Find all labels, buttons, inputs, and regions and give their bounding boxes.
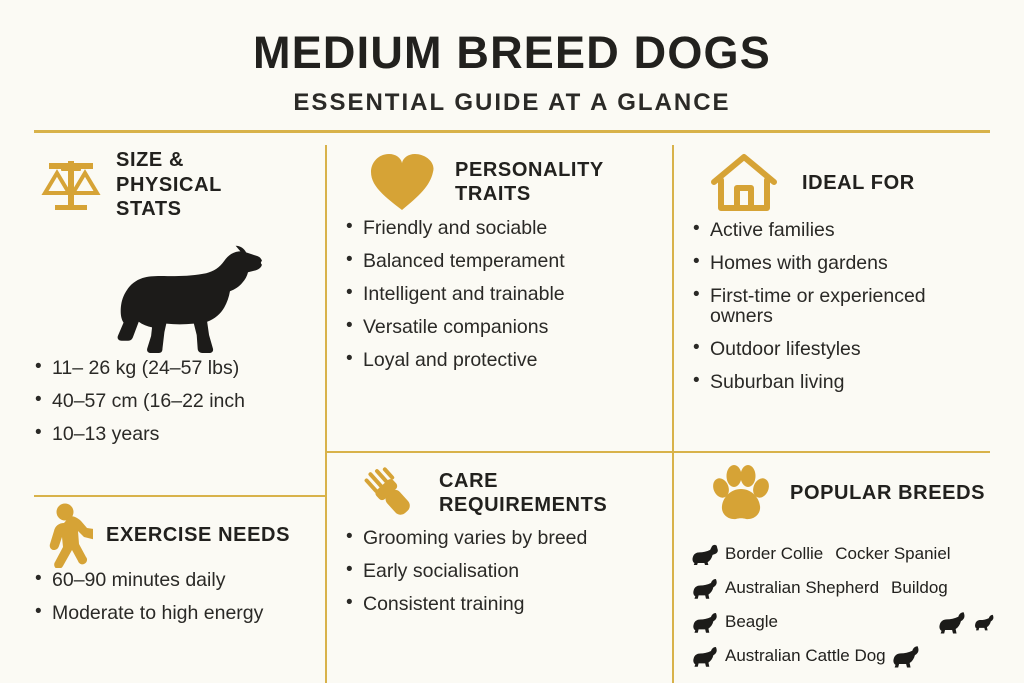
page-title: MEDIUM BREED DOGS bbox=[0, 30, 1024, 75]
breed-name-secondary: Buildog bbox=[891, 578, 948, 598]
list-item: Loyal and protective bbox=[345, 350, 663, 370]
vertical-divider-left bbox=[325, 145, 327, 683]
list-item: Homes with gardens bbox=[692, 253, 992, 273]
panel-header: CARE REQUIREMENTS bbox=[345, 458, 663, 528]
list-item: Consistent training bbox=[345, 594, 663, 614]
personality-list: Friendly and sociable Balanced temperame… bbox=[345, 218, 663, 370]
ideal-for-list: Active families Homes with gardens First… bbox=[692, 220, 992, 392]
trailing-dog-glyphs bbox=[938, 610, 1002, 634]
panel-title: EXERCISE NEEDS bbox=[106, 523, 290, 547]
list-item: 60–90 minutes daily bbox=[34, 570, 322, 590]
list-item: Active families bbox=[692, 220, 992, 240]
panel-size-physical-stats: SIZE & PHYSICAL STATS 11– 26 kg (24–57 l… bbox=[34, 146, 322, 457]
grooming-comb-icon bbox=[355, 458, 425, 528]
breed-name-primary: Australian Shepherd bbox=[725, 578, 879, 598]
panel-care-requirements: CARE REQUIREMENTS Grooming varies by bre… bbox=[345, 458, 663, 627]
list-item: Intelligent and trainable bbox=[345, 284, 663, 304]
list-item: 40–57 cm (16–22 inch bbox=[34, 391, 322, 411]
dog-glyph-icon bbox=[938, 610, 968, 634]
panel-title: SIZE & PHYSICAL STATS bbox=[116, 148, 266, 221]
list-item: Grooming varies by breed bbox=[345, 528, 663, 548]
panel-title: CARE REQUIREMENTS bbox=[439, 469, 663, 518]
dog-glyph-icon bbox=[692, 543, 720, 565]
dog-glyph-icon bbox=[692, 645, 720, 667]
breed-row: Beagle bbox=[692, 608, 1002, 635]
house-icon bbox=[704, 146, 784, 220]
panel-header: SIZE & PHYSICAL STATS bbox=[34, 146, 322, 224]
panel-header: POPULAR BREEDS bbox=[692, 458, 1002, 528]
horizontal-divider-left-column bbox=[34, 495, 326, 497]
header-divider bbox=[34, 130, 990, 133]
panel-header: PERSONALITY TRAITS bbox=[345, 146, 663, 218]
dog-glyph-icon bbox=[692, 611, 720, 633]
dog-silhouette bbox=[96, 236, 286, 358]
panel-title: POPULAR BREEDS bbox=[790, 481, 985, 505]
panel-exercise-needs: EXERCISE NEEDS 60–90 minutes daily Moder… bbox=[34, 500, 322, 636]
breed-name-primary: Border Collie bbox=[725, 544, 823, 564]
panel-personality-traits: PERSONALITY TRAITS Friendly and sociable… bbox=[345, 146, 663, 383]
list-item: 11– 26 kg (24–57 lbs) bbox=[34, 358, 322, 378]
horizontal-divider-mid-right bbox=[325, 451, 990, 453]
panel-header: EXERCISE NEEDS bbox=[34, 500, 322, 570]
walking-person-icon bbox=[34, 500, 96, 570]
care-list: Grooming varies by breed Early socialisa… bbox=[345, 528, 663, 614]
vertical-divider-right bbox=[672, 145, 674, 683]
list-item: Moderate to high energy bbox=[34, 603, 322, 623]
breed-row: Border Collie Cocker Spaniel bbox=[692, 540, 1002, 567]
size-stats-list: 11– 26 kg (24–57 lbs) 40–57 cm (16–22 in… bbox=[34, 358, 322, 444]
balance-scales-icon bbox=[34, 146, 108, 224]
panel-popular-breeds: POPULAR BREEDS Border Collie Cocker Span… bbox=[692, 458, 1002, 676]
page-subtitle: ESSENTIAL GUIDE AT A GLANCE bbox=[0, 91, 1024, 115]
panel-title: PERSONALITY TRAITS bbox=[455, 158, 663, 207]
panel-title: IDEAL FOR bbox=[802, 171, 915, 195]
list-item: Versatile companions bbox=[345, 317, 663, 337]
breed-name-secondary: Cocker Spaniel bbox=[835, 544, 950, 564]
list-item: Early socialisation bbox=[345, 561, 663, 581]
breed-name-primary: Australian Cattle Dog bbox=[725, 646, 886, 666]
dog-glyph-icon bbox=[974, 613, 996, 631]
panel-header: IDEAL FOR bbox=[692, 146, 992, 220]
breed-name-primary: Beagle bbox=[725, 612, 778, 632]
dog-glyph-icon bbox=[692, 577, 720, 599]
breed-row: Australian Shepherd Buildog bbox=[692, 574, 1002, 601]
list-item: 10–13 years bbox=[34, 424, 322, 444]
panel-ideal-for: IDEAL FOR Active families Homes with gar… bbox=[692, 146, 992, 405]
list-item: Outdoor lifestyles bbox=[692, 339, 992, 359]
list-item: First-time or experienced owners bbox=[692, 286, 992, 326]
infographic-page: MEDIUM BREED DOGS ESSENTIAL GUIDE AT A G… bbox=[0, 0, 1024, 683]
dog-glyph-icon bbox=[892, 644, 922, 668]
list-item: Suburban living bbox=[692, 372, 992, 392]
header: MEDIUM BREED DOGS ESSENTIAL GUIDE AT A G… bbox=[0, 0, 1024, 115]
breed-row: Australian Cattle Dog bbox=[692, 642, 1002, 669]
list-item: Friendly and sociable bbox=[345, 218, 663, 238]
breed-list: Border Collie Cocker Spaniel Australian … bbox=[692, 540, 1002, 669]
exercise-list: 60–90 minutes daily Moderate to high ene… bbox=[34, 570, 322, 623]
paw-print-icon bbox=[704, 458, 776, 528]
heart-icon bbox=[363, 146, 441, 218]
list-item: Balanced temperament bbox=[345, 251, 663, 271]
